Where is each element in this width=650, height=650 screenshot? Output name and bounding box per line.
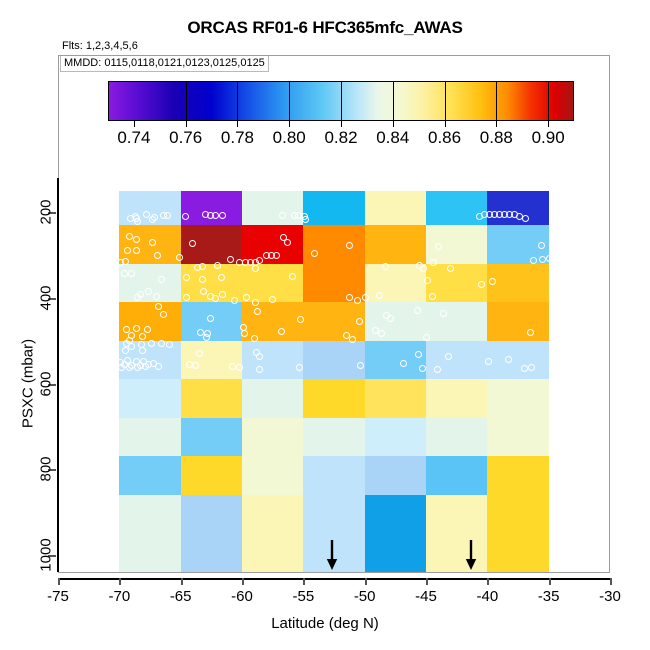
data-point-marker (133, 247, 140, 254)
data-point-marker (219, 212, 226, 219)
data-point-marker (192, 362, 199, 369)
x-axis-tick-label: -75 (47, 588, 69, 605)
heatmap-cell (242, 191, 304, 226)
data-point-marker (435, 243, 442, 250)
data-point-marker (183, 294, 190, 301)
x-axis-tick-label: -50 (354, 588, 376, 605)
heatmap-cell (242, 495, 304, 534)
x-axis-tick (365, 578, 367, 585)
heatmap-cell (181, 379, 243, 418)
arrow-marker-1 (325, 540, 339, 570)
heatmap-cell (242, 341, 304, 380)
heatmap-cell (242, 379, 304, 418)
heatmap-cell (181, 495, 243, 534)
data-point-marker (229, 363, 236, 370)
data-point-marker (153, 293, 160, 300)
data-point-marker (126, 233, 133, 240)
data-point-marker (122, 347, 129, 354)
x-axis-tick (242, 578, 244, 585)
data-point-marker (158, 276, 165, 283)
data-point-marker (289, 273, 296, 280)
x-axis-tick (610, 578, 612, 585)
heatmap-cell (119, 495, 181, 534)
heatmap-cell (487, 456, 549, 495)
heatmap-cell (487, 341, 549, 380)
data-point-marker (445, 353, 452, 360)
data-point-marker (182, 213, 189, 220)
data-point-marker (128, 270, 135, 277)
x-axis-tick (58, 578, 60, 585)
heatmap-cell (426, 341, 488, 380)
data-point-marker (144, 326, 151, 333)
data-point-marker (252, 265, 259, 272)
data-point-marker (158, 340, 165, 347)
heatmap-cell (426, 533, 488, 572)
heatmap-cell (181, 456, 243, 495)
data-point-marker (148, 340, 155, 347)
heatmap-cell (119, 533, 181, 572)
heatmap-cells (0, 0, 650, 650)
y-axis-tick-label: 400 (38, 276, 55, 320)
data-point-marker (155, 303, 162, 310)
data-point-marker (126, 364, 133, 371)
data-point-marker (440, 310, 447, 317)
data-point-marker (160, 311, 167, 318)
heatmap-cell (487, 191, 549, 226)
x-axis-tick (181, 578, 183, 585)
heatmap-cell (365, 456, 427, 495)
heatmap-cell (303, 341, 365, 380)
x-axis-line (58, 578, 610, 580)
data-point-marker (478, 281, 485, 288)
heatmap-cell (426, 418, 488, 457)
x-axis-tick-label: -45 (415, 588, 437, 605)
data-point-marker (423, 334, 430, 341)
data-point-marker (218, 274, 225, 281)
heatmap-plot-area (0, 0, 650, 650)
data-point-marker (154, 252, 161, 259)
data-point-marker (164, 212, 171, 219)
data-point-marker (252, 299, 259, 306)
heatmap-cell (487, 495, 549, 534)
data-point-marker (256, 257, 263, 264)
x-axis-tick (549, 578, 551, 585)
x-axis-tick-label: -70 (108, 588, 130, 605)
heatmap-cell (181, 191, 243, 226)
data-point-marker (284, 239, 291, 246)
data-point-marker (155, 363, 162, 370)
heatmap-cell (303, 225, 365, 264)
data-point-marker (400, 360, 407, 367)
heatmap-cell (487, 379, 549, 418)
data-point-marker (121, 270, 128, 277)
data-point-marker (419, 365, 426, 372)
data-point-marker (489, 278, 496, 285)
y-axis-title: PSXC (mbar) (20, 304, 37, 464)
x-axis-tick (487, 578, 489, 585)
data-point-marker (522, 215, 529, 222)
data-point-marker (241, 330, 248, 337)
data-point-marker (424, 277, 431, 284)
y-axis-tick-label: 200 (38, 190, 55, 234)
y-axis-tick-label: 600 (38, 362, 55, 406)
data-point-marker (346, 294, 353, 301)
data-point-marker (434, 366, 441, 373)
x-axis-tick-label: -40 (476, 588, 498, 605)
heatmap-cell (365, 225, 427, 264)
data-point-marker (538, 242, 545, 249)
data-point-marker (447, 265, 454, 272)
heatmap-cell (487, 533, 549, 572)
heatmap-cell (365, 379, 427, 418)
heatmap-cell (119, 456, 181, 495)
data-point-marker (142, 363, 149, 370)
data-point-marker (133, 325, 140, 332)
heatmap-cell (365, 341, 427, 380)
heatmap-cell (242, 533, 304, 572)
heatmap-cell (426, 379, 488, 418)
heatmap-cell (426, 302, 488, 341)
heatmap-cell (119, 418, 181, 457)
y-axis-line (57, 178, 59, 572)
data-point-marker (256, 366, 263, 373)
data-point-marker (429, 293, 436, 300)
x-axis-tick-label: -30 (599, 588, 621, 605)
x-axis-tick (303, 578, 305, 585)
heatmap-cell (426, 191, 488, 226)
x-axis-tick-label: -55 (292, 588, 314, 605)
heatmap-cell (365, 418, 427, 457)
heatmap-cell (181, 418, 243, 457)
data-point-marker (128, 343, 135, 350)
x-axis-tick-label: -35 (538, 588, 560, 605)
data-point-marker (166, 341, 173, 348)
data-point-marker (212, 212, 219, 219)
heatmap-cell (119, 379, 181, 418)
data-point-marker (207, 315, 214, 322)
heatmap-cell (303, 495, 365, 534)
heatmap-cell (487, 418, 549, 457)
heatmap-cell (119, 264, 181, 303)
x-axis-title: Latitude (deg N) (0, 615, 650, 632)
data-point-marker (376, 292, 383, 299)
heatmap-cell (365, 495, 427, 534)
heatmap-cell (303, 191, 365, 226)
data-point-marker (387, 315, 394, 322)
data-point-marker (527, 329, 534, 336)
data-point-marker (251, 335, 258, 342)
heatmap-cell (426, 456, 488, 495)
data-point-marker (311, 250, 318, 257)
heatmap-cell (365, 533, 427, 572)
heatmap-cell (303, 418, 365, 457)
y-axis-tick-label: 1000 (38, 533, 55, 577)
heatmap-cell (426, 495, 488, 534)
data-point-marker (196, 350, 203, 357)
heatmap-cell (242, 456, 304, 495)
y-axis-tick-label: 800 (38, 447, 55, 491)
data-point-marker (302, 216, 309, 223)
heatmap-cell (181, 302, 243, 341)
heatmap-cell (365, 264, 427, 303)
heatmap-cell (303, 456, 365, 495)
x-axis-tick (119, 578, 121, 585)
data-point-marker (546, 255, 553, 262)
heatmap-cell (487, 302, 549, 341)
x-axis-tick (426, 578, 428, 585)
data-point-marker (505, 356, 512, 363)
data-point-marker (521, 365, 528, 372)
arrow-marker-2 (464, 540, 478, 570)
x-axis-tick-label: -60 (231, 588, 253, 605)
data-point-marker (349, 336, 356, 343)
heatmap-cell (303, 379, 365, 418)
heatmap-cell (365, 191, 427, 226)
x-axis-tick-label: -65 (170, 588, 192, 605)
data-point-marker (278, 328, 285, 335)
heatmap-cell (242, 418, 304, 457)
data-point-marker (256, 353, 263, 360)
heatmap-cell (181, 533, 243, 572)
data-point-marker (145, 288, 152, 295)
heatmap-cell (487, 264, 549, 303)
data-point-marker (212, 295, 219, 302)
chart-root: ORCAS RF01-6 HFC365mfc_AWAS Flts: 1,2,3,… (0, 0, 650, 650)
